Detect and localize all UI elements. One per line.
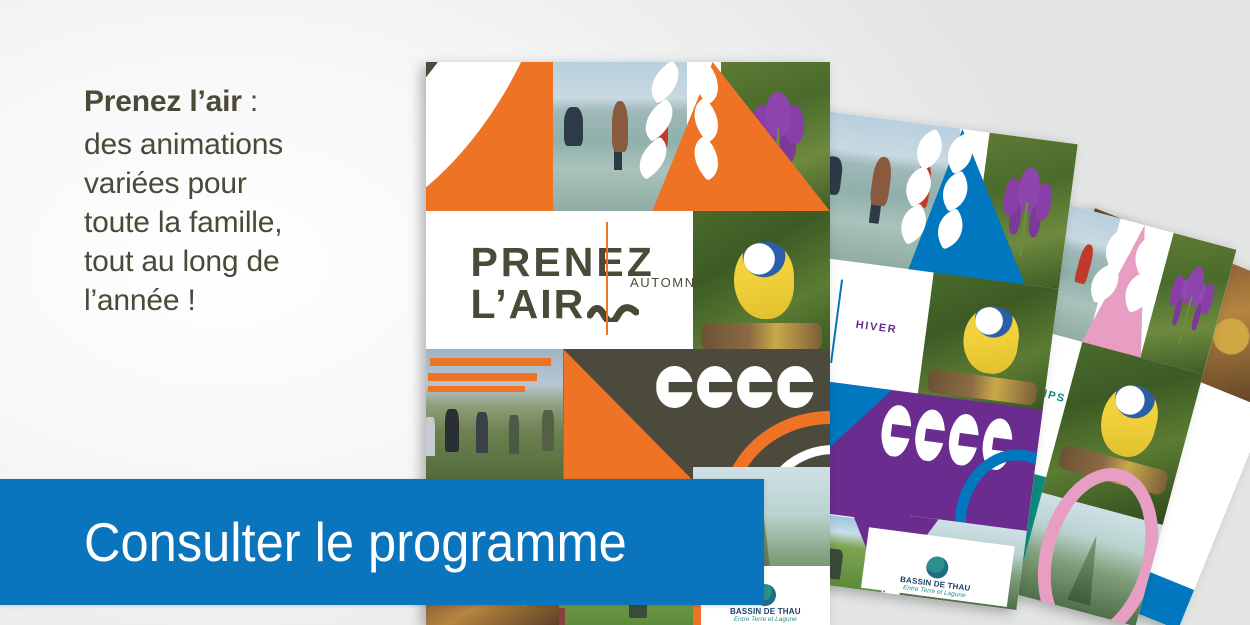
brochure-title: PRENEZ L’AIR (470, 242, 654, 326)
promo-copy: Prenez l’air : des animations variées po… (84, 82, 384, 320)
title-line-1: PRENEZ (470, 242, 654, 284)
cta-banner[interactable]: Consulter le programme (0, 479, 764, 605)
automne-divider (606, 222, 608, 335)
title-line-2: L’AIR (470, 284, 585, 326)
logo-tagline: Entre Terre et Lagune (734, 616, 797, 623)
orange-bar (428, 373, 537, 380)
promo-headline-rest: : (242, 85, 258, 118)
photo-hike-automne (426, 349, 563, 484)
orange-bar (430, 358, 551, 366)
promo-body: des animations variées pour toute la fam… (84, 125, 384, 320)
promo-headline: Prenez l’air : (84, 82, 384, 121)
promo-headline-strong: Prenez l’air (84, 85, 242, 118)
promo-banner: ÉTÉ PRINTEMPS (0, 0, 1250, 625)
logo-name: BASSIN DE THAU (730, 607, 801, 616)
logo-mark-icon (925, 555, 950, 580)
orange-bar (428, 386, 525, 392)
wave-icon (587, 300, 639, 322)
cta-label: Consulter le programme (84, 515, 627, 570)
